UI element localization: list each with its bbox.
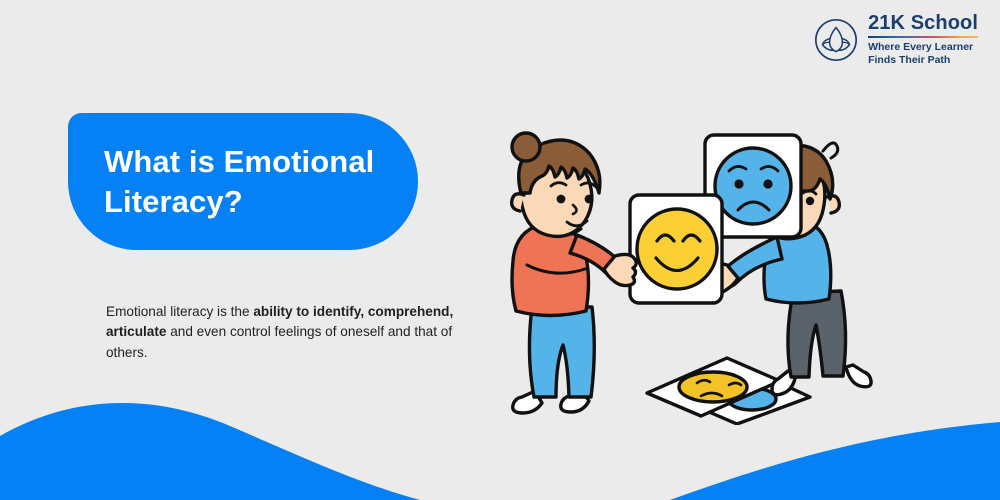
logo-text-block: 21K School Where Every Learner Finds The… bbox=[868, 13, 978, 66]
heading-pill: What is Emotional Literacy? bbox=[68, 113, 418, 250]
decorative-wave-left bbox=[0, 390, 420, 500]
logo-tagline-line1: Where Every Learner bbox=[868, 41, 978, 54]
page-title: What is Emotional Literacy? bbox=[68, 142, 374, 221]
logo-tagline-line2: Finds Their Path bbox=[868, 54, 978, 67]
logo-title: 21K School bbox=[868, 13, 978, 33]
illustration-children-emotion-cards bbox=[505, 115, 925, 425]
body-lead: Emotional literacy is the bbox=[106, 304, 253, 319]
slide-canvas: 21K School Where Every Learner Finds The… bbox=[0, 0, 1000, 500]
happy-face-card bbox=[630, 195, 722, 303]
body-paragraph: Emotional literacy is the ability to ide… bbox=[106, 302, 468, 364]
lotus-circle-icon bbox=[814, 18, 858, 62]
logo-gradient-rule bbox=[868, 36, 978, 38]
left-child bbox=[512, 133, 637, 413]
brand-logo[interactable]: 21K School Where Every Learner Finds The… bbox=[814, 13, 978, 66]
